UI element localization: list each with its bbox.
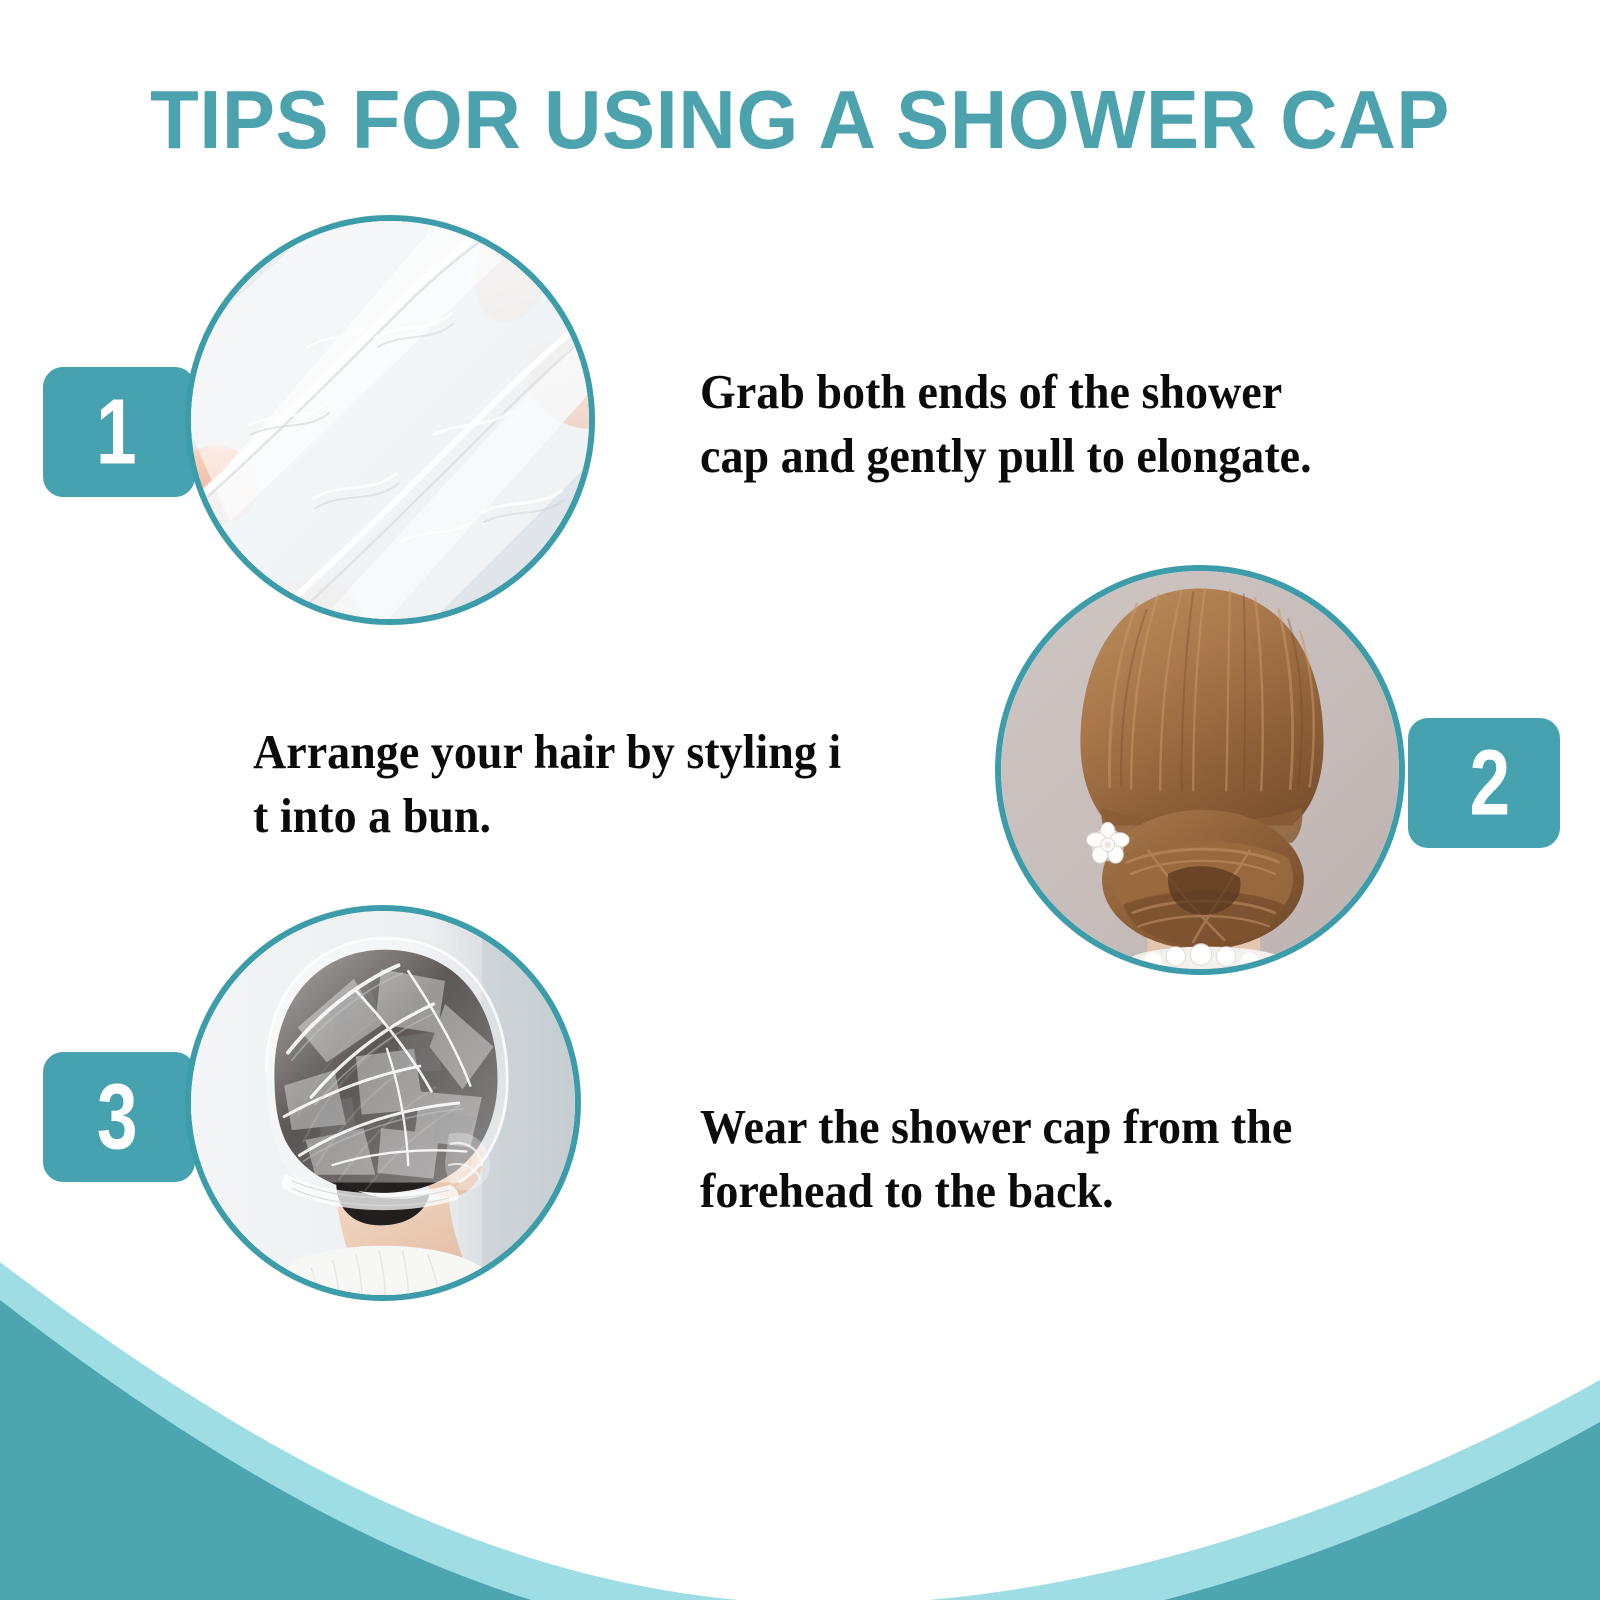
step-image-1: [185, 215, 595, 625]
infographic-canvas: TIPS FOR USING A SHOWER CAP 1: [0, 0, 1600, 1600]
step-text-3: Wear the shower cap from the forehead to…: [700, 1095, 1377, 1222]
step-image-2: [995, 565, 1405, 975]
page-title: TIPS FOR USING A SHOWER CAP: [32, 78, 1568, 161]
step-image-3: [185, 905, 581, 1301]
step-number-label-1: 1: [96, 386, 142, 479]
step-number-badge-2: 2: [1408, 718, 1560, 848]
step-number-label-3: 3: [97, 1071, 141, 1164]
step-number-label-2: 2: [1458, 737, 1511, 830]
step-number-badge-1: 1: [43, 367, 195, 497]
wearing-shower-cap-illustration: [191, 911, 575, 1295]
plastic-cap-stretch-illustration: [191, 221, 589, 619]
step-text-1: Grab both ends of the shower cap and gen…: [700, 360, 1358, 487]
hair-bun-illustration: [1001, 571, 1399, 969]
step-number-badge-3: 3: [43, 1052, 195, 1182]
step-text-2: Arrange your hair by styling i t into a …: [253, 720, 911, 847]
wave-footer: [0, 1240, 1600, 1600]
